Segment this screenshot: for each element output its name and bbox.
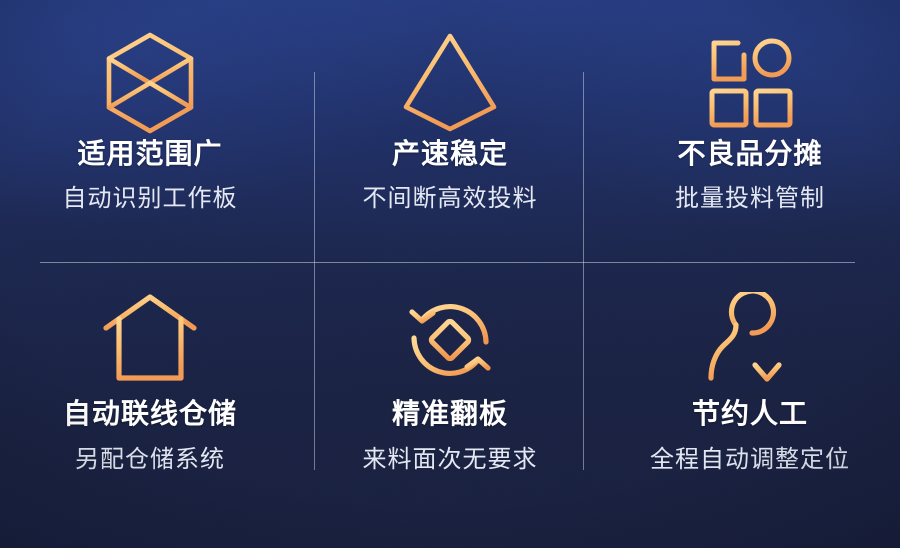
feature-grid-banner: 适用范围广 自动识别工作板 产速稳定 不间断高效投料 [0, 0, 900, 548]
feature-card-5[interactable]: 精准翻板 来料面次无要求 [300, 274, 600, 548]
person-down-arrow-icon [703, 290, 797, 390]
feature-card-1[interactable]: 适用范围广 自动识别工作板 [0, 0, 300, 274]
feature-card-2[interactable]: 产速稳定 不间断高效投料 [300, 0, 600, 274]
feature-title: 适用范围广 [77, 140, 222, 168]
rotate-diamond-icon [402, 290, 498, 390]
feature-subtitle: 另配仓储系统 [75, 448, 225, 472]
feature-card-6[interactable]: 节约人工 全程自动调整定位 [600, 274, 900, 548]
warehouse-house-icon [101, 290, 199, 390]
feature-subtitle: 来料面次无要求 [363, 448, 538, 472]
feature-card-4[interactable]: 自动联线仓储 另配仓储系统 [0, 274, 300, 548]
feature-title: 不良品分摊 [677, 140, 822, 168]
feature-subtitle: 全程自动调整定位 [650, 448, 850, 472]
grid-squares-circle-icon [704, 33, 796, 133]
feature-title: 精准翻板 [392, 400, 508, 428]
feature-card-3[interactable]: 不良品分摊 批量投料管制 [600, 0, 900, 274]
feature-title: 节约人工 [692, 400, 808, 428]
feature-subtitle: 自动识别工作板 [63, 187, 238, 211]
feature-title: 产速稳定 [392, 140, 508, 168]
feature-subtitle: 批量投料管制 [675, 187, 825, 211]
cube-hexagon-icon [102, 33, 198, 133]
features-grid: 适用范围广 自动识别工作板 产速稳定 不间断高效投料 [0, 0, 900, 548]
feature-title: 自动联线仓储 [63, 400, 237, 428]
pyramid-icon [402, 33, 498, 133]
feature-subtitle: 不间断高效投料 [363, 187, 538, 211]
